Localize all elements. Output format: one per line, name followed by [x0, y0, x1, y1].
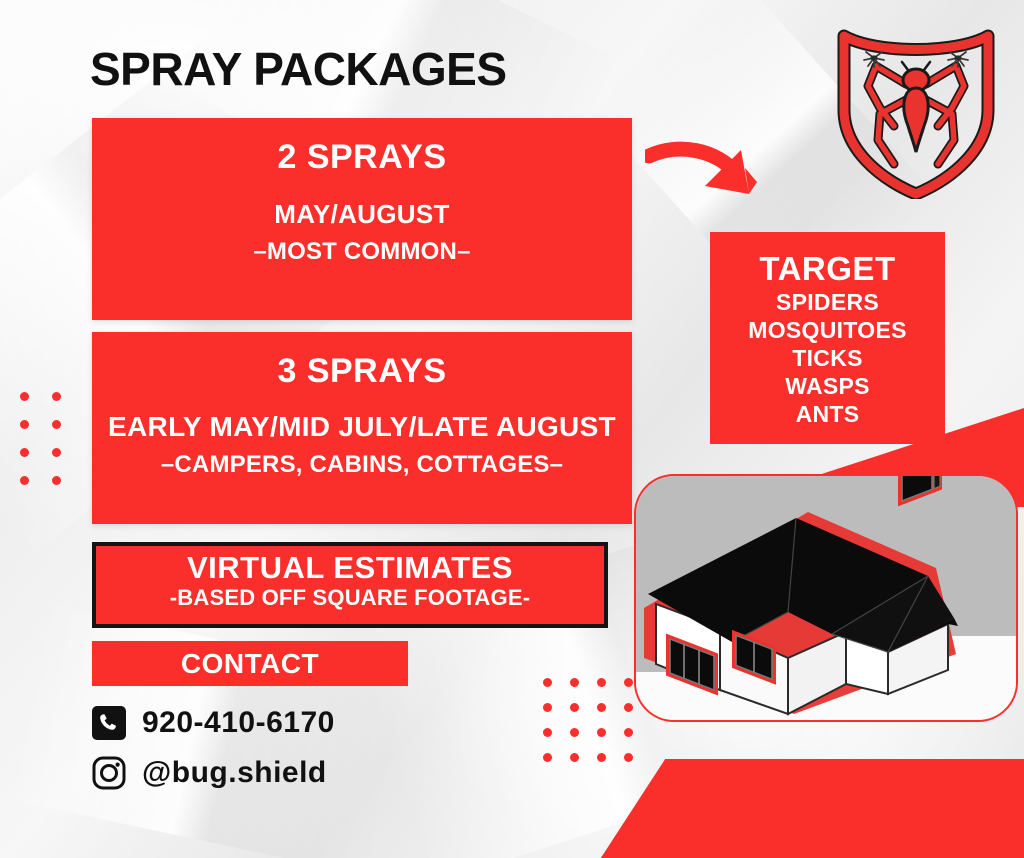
instagram-contact-row[interactable]: @bug.shield — [92, 756, 327, 790]
house-illustration-card — [634, 474, 1018, 722]
spray-packages-poster: SPRAY PACKAGES — [0, 0, 1024, 858]
curved-arrow-icon — [645, 138, 770, 213]
target-pest-item: SPIDERS — [710, 288, 945, 316]
phone-number: 920-410-6170 — [142, 706, 335, 740]
target-pest-item: TICKS — [710, 344, 945, 372]
package-schedule: EARLY MAY/MID JULY/LATE AUGUST — [92, 411, 632, 443]
contact-banner: CONTACT — [92, 641, 408, 686]
package-heading: 2 SPRAYS — [92, 138, 632, 177]
package-note: –MOST COMMON– — [92, 238, 632, 266]
spray-package-card: 3 SPRAYS EARLY MAY/MID JULY/LATE AUGUST … — [92, 332, 632, 524]
instagram-handle: @bug.shield — [142, 756, 327, 790]
phone-icon — [92, 706, 126, 740]
virtual-estimates-heading: VIRTUAL ESTIMATES — [96, 550, 604, 586]
virtual-estimates-note: -BASED OFF SQUARE FOOTAGE- — [96, 585, 604, 611]
phone-contact-row[interactable]: 920-410-6170 — [92, 706, 335, 740]
target-pest-item: ANTS — [710, 400, 945, 428]
house-illustration — [636, 476, 1016, 720]
contact-label: CONTACT — [92, 641, 408, 686]
target-heading: TARGET — [710, 250, 945, 288]
package-heading: 3 SPRAYS — [92, 352, 632, 391]
spray-package-card: 2 SPRAYS MAY/AUGUST –MOST COMMON– — [92, 118, 632, 320]
page-title: SPRAY PACKAGES — [90, 42, 507, 96]
target-pests-card: TARGET SPIDERS MOSQUITOES TICKS WASPS AN… — [710, 232, 945, 444]
target-pest-item: WASPS — [710, 372, 945, 400]
target-pest-item: MOSQUITOES — [710, 316, 945, 344]
instagram-icon — [92, 756, 126, 790]
dot-grid-decoration — [20, 392, 84, 504]
package-schedule: MAY/AUGUST — [92, 199, 632, 230]
virtual-estimates-card: VIRTUAL ESTIMATES -BASED OFF SQUARE FOOT… — [92, 542, 608, 628]
spider-shield-logo — [836, 14, 996, 204]
package-note: –CAMPERS, CABINS, COTTAGES– — [92, 451, 632, 479]
